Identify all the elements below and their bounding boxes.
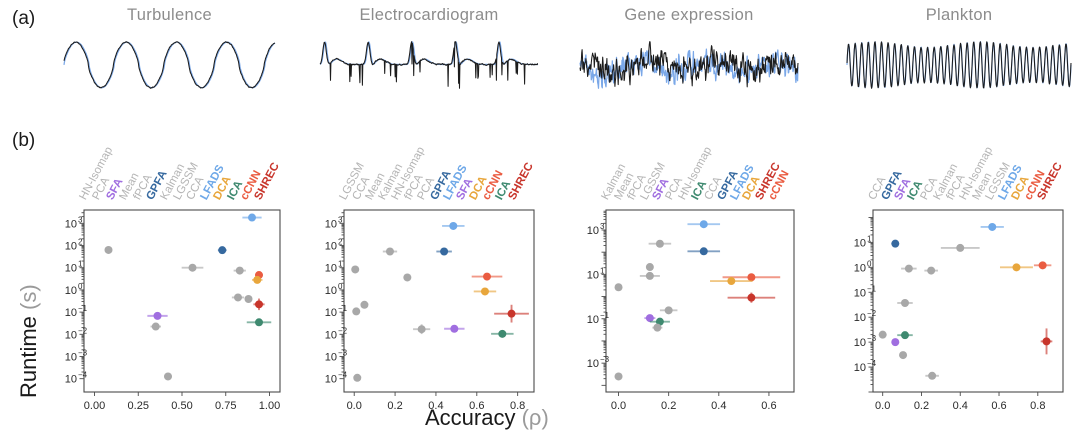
data-point-shrec — [1041, 328, 1053, 354]
svg-text:10: 10 — [325, 351, 337, 363]
x-axis-label-unit: (ρ) — [522, 405, 549, 430]
svg-text:0: 0 — [338, 282, 343, 291]
data-point-lfads — [242, 214, 261, 222]
trace-panel: Electrocardiogram — [318, 0, 540, 128]
data-point-pca — [924, 267, 938, 275]
method-label-shrec: SHREC — [506, 161, 535, 202]
data-point-hn-isomap — [615, 372, 623, 380]
svg-text:−2: −2 — [78, 326, 88, 335]
svg-text:−2: −2 — [338, 326, 348, 335]
data-point-cca — [925, 372, 939, 380]
trace-waveform — [845, 34, 1073, 96]
svg-text:0: 0 — [78, 282, 83, 291]
svg-text:10: 10 — [587, 269, 599, 281]
data-point-lgssm — [234, 267, 246, 275]
trace-waveform — [318, 34, 540, 96]
data-point-kalman — [383, 248, 397, 256]
svg-text:10: 10 — [854, 287, 866, 299]
y-axis-label-unit: (s) — [16, 284, 41, 310]
data-point-pca — [660, 306, 678, 314]
svg-text:0.6: 0.6 — [761, 400, 776, 412]
svg-text:10: 10 — [65, 329, 77, 341]
data-point-lfads — [442, 222, 464, 230]
svg-text:10: 10 — [325, 241, 337, 253]
data-point-fpca — [901, 265, 917, 273]
data-point-ccnn — [472, 273, 503, 281]
trace-title: Gene expression — [578, 6, 800, 25]
trace-title: Electrocardiogram — [318, 6, 540, 25]
trace-title: Plankton — [845, 6, 1073, 25]
data-point-ica — [491, 330, 513, 338]
data-point-mean — [879, 331, 887, 339]
trace-row: TurbulenceElectrocardiogramGene expressi… — [0, 0, 1080, 128]
svg-text:1.00: 1.00 — [259, 400, 280, 412]
figure-root: (a) (b) TurbulenceElectrocardiogramGene … — [0, 0, 1080, 441]
data-point-shrec — [728, 293, 776, 303]
svg-text:−3: −3 — [78, 348, 88, 357]
x-axis-label: Accuracy (ρ) — [425, 405, 549, 431]
trace-panel: Gene expression — [578, 0, 800, 128]
svg-text:10: 10 — [65, 285, 77, 297]
svg-text:10: 10 — [65, 351, 77, 363]
svg-text:2: 2 — [338, 238, 343, 247]
svg-text:10: 10 — [587, 358, 599, 370]
svg-text:−3: −3 — [867, 334, 877, 343]
method-label-group: CCAGPFASFAICAPCAKalmanfPCAHN-IsomapMeanL… — [845, 128, 1077, 206]
scatter-row: HN-IsomapPCASFAMeanfPCAGPFAKalmanLGSSMCC… — [0, 128, 1080, 441]
scatter-panel: LGSSMCCAMeanKalmanHN-IsomapfPCAPCAGPFALF… — [318, 128, 546, 441]
svg-text:10: 10 — [65, 374, 77, 386]
svg-text:10: 10 — [325, 285, 337, 297]
data-point-ica — [247, 318, 272, 326]
data-point-kalman — [649, 240, 672, 248]
data-point-gpfa — [218, 246, 227, 254]
data-point-mean — [352, 307, 360, 315]
scatter-plot: 10310210110010−110−210−310−40.000.250.50… — [62, 206, 290, 439]
y-axis-label: Runtime (s) — [16, 284, 42, 398]
svg-text:−3: −3 — [338, 348, 348, 357]
data-point-fpca — [151, 323, 162, 331]
data-point-sfa — [147, 312, 167, 320]
svg-text:0.2: 0.2 — [661, 400, 676, 412]
scatter-panel: HN-IsomapPCASFAMeanfPCAGPFAKalmanLGSSMCC… — [62, 128, 290, 441]
svg-text:−1: −1 — [338, 304, 348, 313]
data-point-kalman — [182, 264, 204, 272]
svg-text:−1: −1 — [78, 304, 88, 313]
data-point-ica — [897, 331, 913, 339]
data-point-hn-isomap — [105, 246, 113, 254]
svg-text:0.50: 0.50 — [171, 400, 192, 412]
svg-text:0.2: 0.2 — [914, 400, 929, 412]
svg-text:10: 10 — [854, 362, 866, 374]
data-point-dca — [1000, 263, 1033, 271]
data-point-pca — [245, 295, 253, 303]
data-point-mean — [646, 263, 654, 271]
svg-text:3: 3 — [338, 215, 343, 224]
svg-text:2: 2 — [78, 238, 83, 247]
svg-text:0.0: 0.0 — [347, 400, 362, 412]
data-point-sfa — [891, 338, 899, 346]
method-label-group: LGSSMCCAMeanKalmanHN-IsomapfPCAPCAGPFALF… — [318, 128, 546, 206]
data-point-sfa — [444, 325, 464, 333]
svg-text:−1: −1 — [600, 311, 610, 320]
svg-text:10: 10 — [854, 312, 866, 324]
scatter-plot: 10110010−110−210−310−40.00.20.40.60.8 — [845, 206, 1077, 439]
svg-text:1: 1 — [600, 266, 605, 275]
data-point-shrec — [253, 299, 264, 311]
data-point-gpfa — [687, 247, 720, 255]
svg-text:10: 10 — [65, 263, 77, 275]
data-point-lfads — [687, 220, 720, 228]
x-axis-label-main: Accuracy — [425, 405, 515, 430]
trace-waveform — [578, 34, 800, 96]
svg-text:1: 1 — [338, 260, 343, 269]
svg-text:10: 10 — [325, 307, 337, 319]
scatter-panel: KalmanMeanfPCALGSSMSFAPCAHN-IsomapICACCA… — [578, 128, 806, 441]
svg-text:3: 3 — [78, 215, 83, 224]
svg-text:0.25: 0.25 — [128, 400, 149, 412]
svg-text:10: 10 — [854, 262, 866, 274]
data-point-gpfa — [891, 240, 899, 248]
data-point-pca — [353, 374, 361, 382]
svg-text:0.75: 0.75 — [215, 400, 236, 412]
svg-text:−2: −2 — [867, 309, 877, 318]
svg-text:−1: −1 — [867, 284, 877, 293]
data-point-fpca — [640, 272, 660, 280]
svg-text:10: 10 — [854, 237, 866, 249]
svg-text:−3: −3 — [600, 355, 610, 364]
svg-text:10: 10 — [587, 225, 599, 237]
method-label-group: KalmanMeanfPCALGSSMSFAPCAHN-IsomapICACCA… — [578, 128, 806, 206]
data-point-cca — [232, 293, 244, 301]
data-point-cca — [360, 301, 368, 309]
data-point-hn-isomap — [403, 273, 411, 281]
data-point-kalman — [941, 244, 980, 252]
svg-text:1: 1 — [78, 260, 83, 269]
svg-text:−4: −4 — [78, 371, 88, 380]
svg-text:10: 10 — [325, 329, 337, 341]
data-point-shrec — [494, 305, 529, 323]
svg-text:0.4: 0.4 — [711, 400, 726, 412]
svg-text:−4: −4 — [867, 359, 877, 368]
method-label-group: HN-IsomapPCASFAMeanfPCAGPFAKalmanLGSSMCC… — [62, 128, 290, 206]
svg-text:1: 1 — [867, 234, 872, 243]
svg-text:0.6: 0.6 — [991, 400, 1006, 412]
data-point-dca — [710, 277, 753, 285]
svg-text:0: 0 — [867, 259, 872, 268]
svg-text:0.2: 0.2 — [387, 400, 402, 412]
trace-title: Turbulence — [62, 6, 277, 25]
y-axis-label-main: Runtime — [16, 316, 41, 398]
svg-text:10: 10 — [587, 314, 599, 326]
svg-text:0.0: 0.0 — [611, 400, 626, 412]
svg-text:10: 10 — [854, 337, 866, 349]
svg-text:10: 10 — [325, 374, 337, 386]
svg-text:10: 10 — [65, 307, 77, 319]
svg-text:0.00: 0.00 — [84, 400, 105, 412]
data-point-ccnn — [1034, 261, 1051, 269]
data-point-gpfa — [436, 248, 452, 256]
data-point-lgssm — [899, 351, 907, 359]
data-point-hn-isomap — [897, 299, 913, 307]
svg-text:−4: −4 — [338, 371, 348, 380]
svg-text:0.8: 0.8 — [1030, 400, 1045, 412]
data-point-lgssm — [615, 283, 623, 291]
svg-text:10: 10 — [65, 241, 77, 253]
scatter-panel: CCAGPFASFAICAPCAKalmanfPCAHN-IsomapMeanL… — [845, 128, 1077, 441]
data-point-fpca — [413, 324, 430, 334]
svg-text:3: 3 — [600, 222, 605, 231]
data-point-lgssm — [351, 265, 359, 273]
svg-text:10: 10 — [325, 218, 337, 230]
trace-panel: Plankton — [845, 0, 1073, 128]
scatter-plot: 10310110−110−30.00.20.40.6 — [578, 206, 806, 439]
trace-waveform — [62, 34, 277, 96]
data-point-mean — [164, 372, 172, 380]
svg-text:10: 10 — [325, 263, 337, 275]
svg-text:0.0: 0.0 — [875, 400, 890, 412]
svg-text:10: 10 — [65, 218, 77, 230]
data-point-lfads — [981, 223, 1004, 231]
trace-panel: Turbulence — [62, 0, 277, 128]
svg-text:0.4: 0.4 — [953, 400, 968, 412]
data-point-dca — [474, 287, 496, 295]
